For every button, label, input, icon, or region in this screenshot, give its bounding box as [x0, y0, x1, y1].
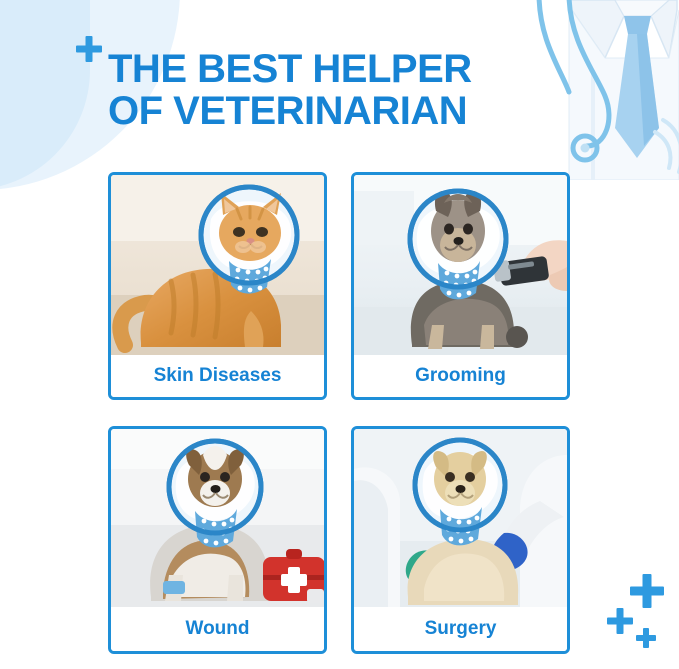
page-title: THE BEST HELPER OF VETERINARIAN: [108, 48, 528, 132]
plus-icon: [607, 608, 633, 634]
feature-card-grooming[interactable]: Grooming: [351, 172, 570, 400]
card-photo-wound: [111, 429, 324, 607]
card-caption-surgery: Surgery: [354, 607, 567, 651]
page-title-line-1: THE BEST HELPER: [108, 48, 528, 90]
feature-card-skin-diseases[interactable]: Skin Diseases: [108, 172, 327, 400]
plus-icon: [630, 574, 664, 608]
feature-card-surgery[interactable]: Surgery: [351, 426, 570, 654]
card-caption-skin-diseases: Skin Diseases: [111, 355, 324, 397]
feature-card-grid: Skin Diseases: [108, 172, 570, 654]
feature-card-wound[interactable]: Wound: [108, 426, 327, 654]
plus-icon: [636, 628, 656, 648]
page-title-line-2: OF VETERINARIAN: [108, 90, 528, 132]
card-photo-grooming: [354, 175, 567, 358]
card-caption-wound: Wound: [111, 607, 324, 651]
card-photo-skin-diseases: [111, 175, 324, 358]
card-photo-surgery: [354, 429, 567, 607]
card-caption-grooming: Grooming: [354, 355, 567, 397]
poster-root: THE BEST HELPER OF VETERINARIAN: [0, 0, 679, 669]
plus-icon: [76, 36, 102, 62]
